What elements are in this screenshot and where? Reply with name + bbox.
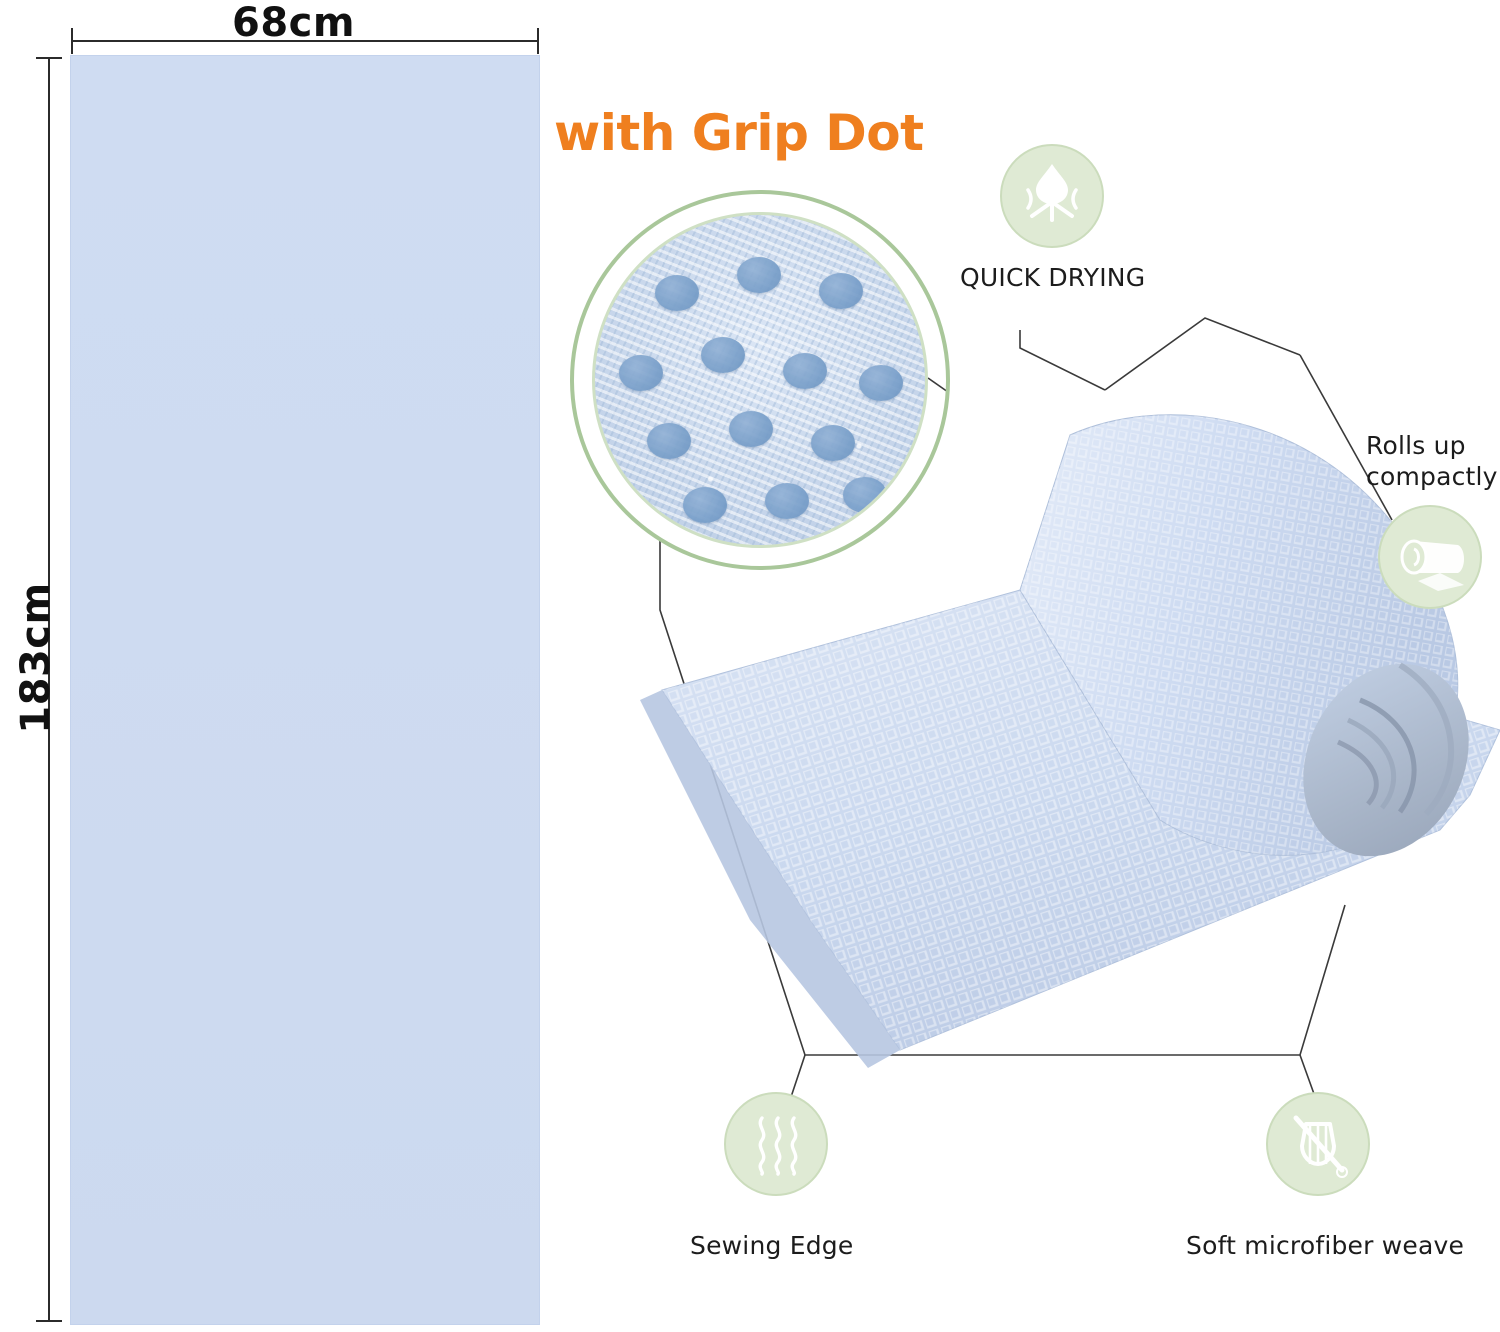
grip-dot — [701, 337, 745, 373]
width-arrow-cap-right — [537, 28, 539, 54]
sewing-edge-badge — [724, 1092, 828, 1196]
soft-microfiber-weave-badge — [1266, 1092, 1370, 1196]
soft-microfiber-weave-label: Soft microfiber weave — [1186, 1230, 1486, 1261]
height-arrow-cap-bottom — [36, 1320, 62, 1322]
towel-svg — [600, 400, 1500, 1120]
grip-dot — [619, 355, 663, 391]
height-label: 183cm — [13, 578, 59, 738]
no-abrasion-icon — [1268, 1094, 1368, 1194]
mat-flat-swatch — [70, 55, 540, 1325]
stitch-lines-icon — [726, 1094, 826, 1194]
rolls-up-compactly-badge — [1378, 505, 1482, 609]
grip-dot — [859, 365, 903, 401]
quick-drying-badge — [1000, 144, 1104, 248]
rolled-towel-image — [600, 400, 1500, 1120]
width-arrow-cap-left — [71, 28, 73, 54]
sewing-edge-label: Sewing Edge — [690, 1230, 920, 1261]
product-infographic: 68cm 183cm with Grip Dot — [0, 0, 1500, 1332]
grip-dot — [783, 353, 827, 389]
height-arrow-cap-top — [36, 57, 62, 59]
drying-droplet-icon — [1002, 146, 1102, 246]
width-label: 68cm — [232, 0, 355, 46]
grip-dot — [655, 275, 699, 311]
grip-dot — [819, 273, 863, 309]
page-title: with Grip Dot — [554, 104, 924, 162]
rolled-mat-icon — [1380, 507, 1480, 607]
quick-drying-label: QUICK DRYING — [960, 262, 1200, 293]
rolls-up-compactly-label: Rolls up compactly — [1366, 430, 1500, 492]
grip-dot — [737, 257, 781, 293]
